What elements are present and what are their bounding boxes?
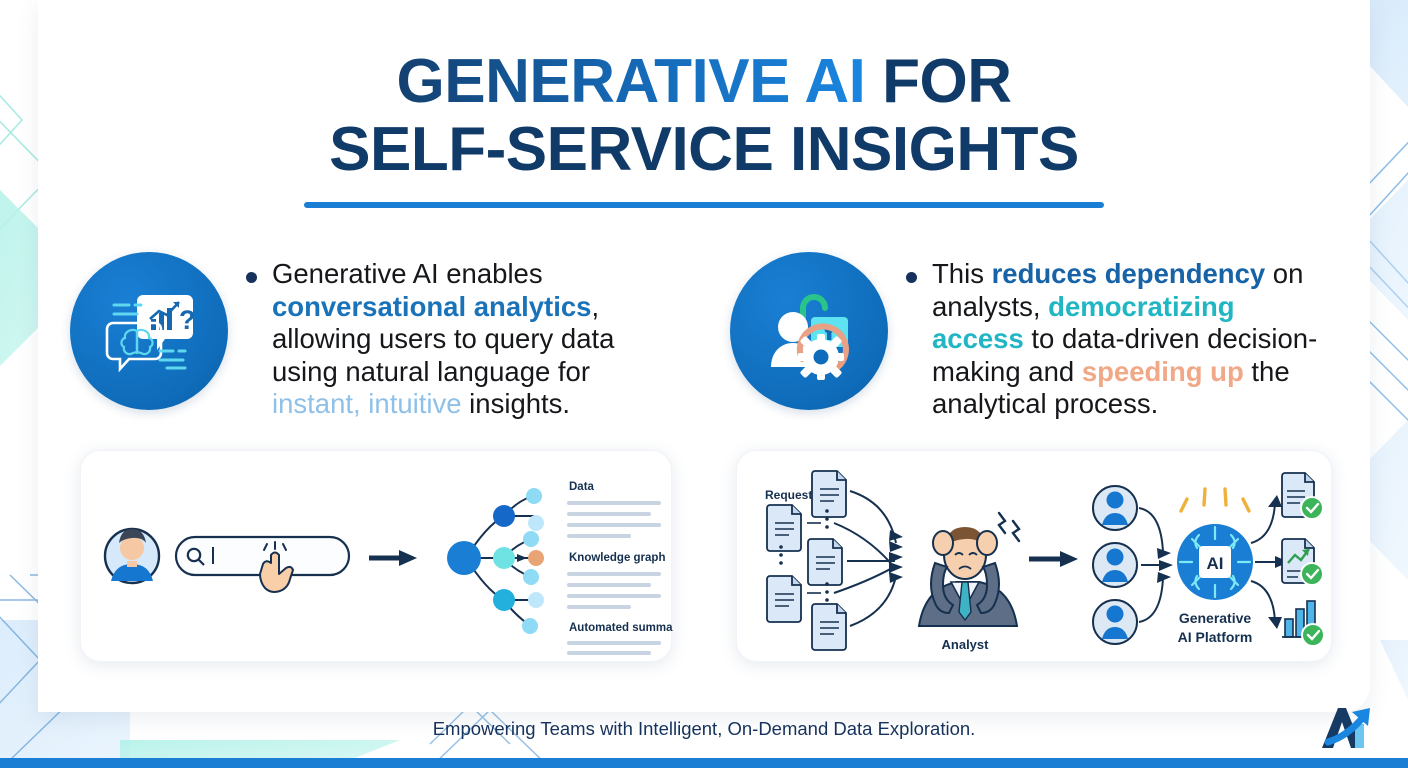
text-highlight-reduces-dependency: reduces dependency <box>992 258 1266 289</box>
flow-arrow <box>369 550 417 566</box>
conversational-analytics-icon: ? <box>70 252 228 410</box>
democratized-access-icon <box>730 252 888 410</box>
text-plain: This <box>932 258 992 289</box>
footer-tagline: Empowering Teams with Intelligent, On-De… <box>0 718 1408 740</box>
illustration-card-analyst-vs-platform: Request <box>736 450 1332 662</box>
title-for: FOR <box>865 47 1011 116</box>
bullet-left-text: Generative AI enables conversational ana… <box>272 258 670 421</box>
ai-growth-arrow-logo <box>1308 702 1386 754</box>
node-label-automated-summary: Automated summary <box>569 622 673 634</box>
column-right: This reduces dependency on analysts, dem… <box>730 252 1330 421</box>
user-group <box>1093 486 1137 644</box>
label-platform-line2: AI Platform <box>1178 629 1253 645</box>
bullet-right-text: This reduces dependency on analysts, dem… <box>932 258 1330 421</box>
output-document-trend-chart <box>1282 539 1323 585</box>
stressed-analyst-figure: Analyst <box>919 513 1019 652</box>
text-highlight-speeding-up: speeding up <box>1082 356 1244 387</box>
text-plain: insights. <box>462 388 571 419</box>
page-title-line-1: GENERATIVE AI FOR <box>0 48 1408 116</box>
transition-arrow <box>1029 551 1078 567</box>
page-title-line-2: SELF-SERVICE INSIGHTS <box>0 116 1408 184</box>
bullet-left: Generative AI enables conversational ana… <box>246 252 670 421</box>
text-highlight-conversational-analytics: conversational analytics <box>272 291 591 322</box>
bullet-marker <box>906 272 917 283</box>
illustration-card-query-flow: Data Knowledge graph Automated summary <box>80 450 672 662</box>
node-label-data: Data <box>569 481 595 493</box>
svg-text:?: ? <box>179 305 196 335</box>
column-left: ? <box>70 252 670 421</box>
generative-ai-platform: AI Generative AI Platform <box>1177 489 1253 645</box>
header: GENERATIVE AI FOR SELF-SERVICE INSIGHTS <box>0 48 1408 208</box>
label-request: Request <box>765 488 812 502</box>
output-bar-chart <box>1282 601 1324 646</box>
bullet-right: This reduces dependency on analysts, dem… <box>906 252 1330 421</box>
infographic-page: GENERATIVE AI FOR SELF-SERVICE INSIGHTS … <box>0 0 1408 768</box>
bullet-marker <box>246 272 257 283</box>
output-document-report <box>1282 473 1323 519</box>
label-analyst: Analyst <box>942 637 990 652</box>
knowledge-node-graph <box>447 488 544 634</box>
title-underline <box>304 202 1104 208</box>
bottom-accent-bar <box>0 758 1408 768</box>
title-generative-ai: GENERATIVE AI <box>397 47 866 116</box>
svg-text:AI: AI <box>1207 554 1224 573</box>
user-avatar <box>105 529 159 583</box>
node-label-knowledge-graph: Knowledge graph <box>569 552 665 564</box>
label-platform-line1: Generative <box>1179 610 1252 626</box>
text-highlight-instant-intuitive: instant, intuitive <box>272 388 462 419</box>
text-plain: Generative AI enables <box>272 258 543 289</box>
